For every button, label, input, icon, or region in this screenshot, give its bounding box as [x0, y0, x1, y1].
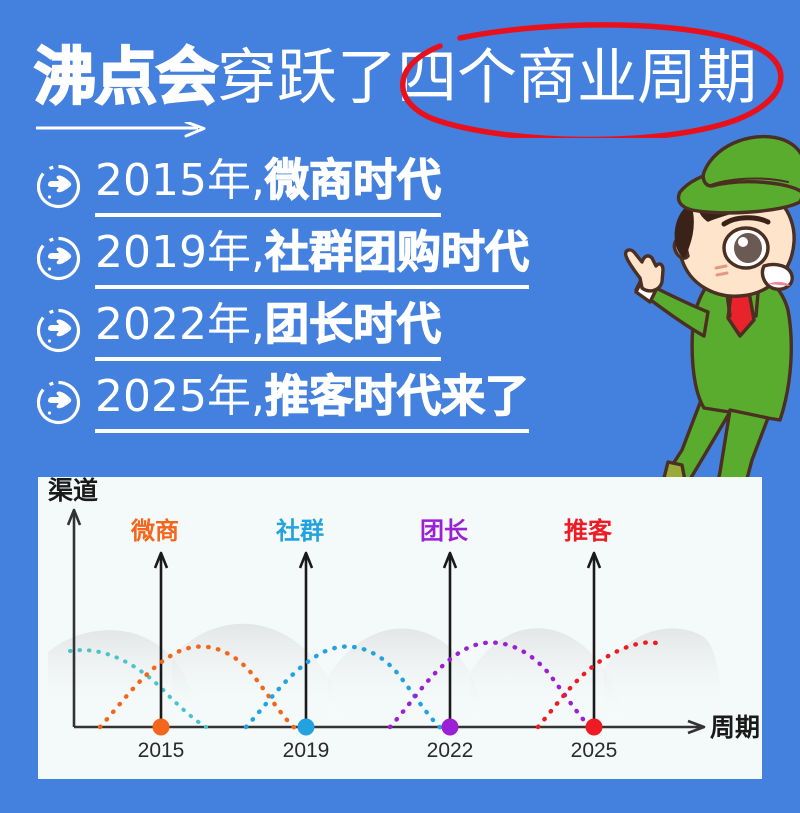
pointing-hand-circle-icon	[36, 236, 81, 281]
pointing-hand-circle-icon	[36, 380, 81, 425]
list-item[interactable]: 2025年,推客时代来了	[36, 366, 656, 438]
list-item[interactable]: 2019年,社群团购时代	[36, 222, 656, 294]
cycle-label-2015: 微商	[130, 517, 179, 545]
x-axis-label: 周期	[710, 713, 760, 742]
timeline-list: 2015年,微商时代 2019年,社群团购时代 2022年,团长时代	[36, 150, 656, 438]
y-axis-label: 渠道	[48, 477, 98, 505]
list-item-text: 2019年,社群团购时代	[95, 227, 529, 289]
cycle-chart: 渠道 周期 微商 2015 社群	[38, 477, 762, 779]
point-marker-2015	[153, 719, 170, 736]
x-tick-2015: 2015	[138, 739, 185, 762]
pointing-hand-circle-icon	[36, 308, 81, 353]
list-item-year: 2025年,	[95, 371, 265, 422]
list-item-year: 2022年,	[95, 299, 265, 350]
list-item-era: 社群团购时代	[265, 227, 529, 278]
point-marker-2022	[442, 719, 459, 736]
list-item[interactable]: 2022年,团长时代	[36, 294, 656, 366]
x-tick-2022: 2022	[427, 739, 474, 762]
x-tick-2025: 2025	[571, 739, 618, 762]
poster-canvas: 沸点会穿跃了四个商业周期 2015年,微商时代 2019年,社群团购时代	[0, 0, 800, 813]
list-item-year: 2015年,	[95, 155, 265, 206]
cycle-label-2019: 社群	[276, 517, 324, 545]
page-title: 沸点会穿跃了四个商业周期	[34, 40, 774, 122]
cycle-label-2025: 推客	[564, 517, 613, 545]
list-item-year: 2019年,	[95, 227, 265, 278]
x-tick-2019: 2019	[283, 739, 330, 762]
list-item[interactable]: 2015年,微商时代	[36, 150, 656, 222]
title-brand: 沸点会	[34, 40, 217, 113]
point-marker-2019	[298, 719, 315, 736]
list-item-text: 2022年,团长时代	[95, 299, 441, 361]
list-item-era: 微商时代	[265, 155, 441, 206]
pointing-hand-circle-icon	[36, 164, 81, 209]
cycle-label-2022: 团长	[420, 517, 469, 545]
point-marker-2025	[586, 719, 603, 736]
title-underline-arrow-icon	[36, 122, 211, 138]
list-item-era: 团长时代	[265, 299, 441, 350]
list-item-text: 2025年,推客时代来了	[95, 371, 529, 433]
title-rest: 穿跃了	[217, 43, 397, 113]
list-item-era: 推客时代来了	[265, 371, 529, 422]
list-item-text: 2015年,微商时代	[95, 155, 441, 217]
title-highlight: 四个商业周期	[397, 43, 757, 113]
cycle-chart-card: 渠道 周期 微商 2015 社群	[38, 477, 762, 779]
